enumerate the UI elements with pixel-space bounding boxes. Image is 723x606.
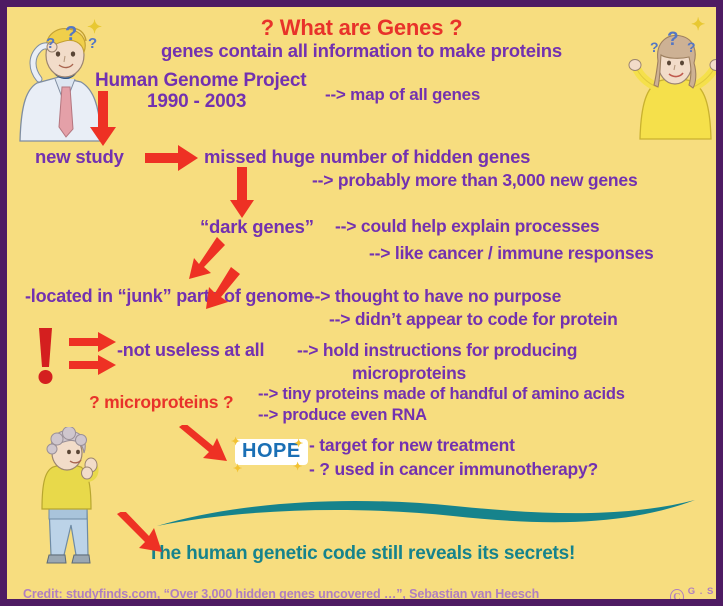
hold-instructions-note: --> hold instructions for producing [297,340,577,360]
diagonal-down-right-arrow-icon [177,425,229,463]
closing-statement: The human genetic code still reveals its… [7,543,716,565]
sparkle-icon: ✦ [294,437,303,450]
sparkle-icon: ✦ [233,462,242,475]
microproteins-word: microproteins [352,363,466,383]
right-arrow-icon [69,355,117,375]
page-title: ? What are Genes ? [7,15,716,40]
right-arrow-icon [69,332,117,352]
new-study-label: new study [35,146,124,167]
copyright-icon: C [670,589,684,605]
exclamation-mark-icon [33,327,59,385]
down-arrow-icon [89,91,117,147]
produce-rna-note: --> produce even RNA [258,406,427,425]
diagonal-down-arrow-icon [203,265,243,311]
right-arrow-icon [145,145,199,171]
down-arrow-icon [229,167,255,219]
teal-swoosh-divider [155,494,700,534]
human-genome-project-label: Human Genome Project [95,70,306,92]
could-help-explain-note: --> could help explain processes [335,216,599,236]
missed-hidden-genes-label: missed huge number of hidden genes [204,146,530,167]
sparkle-icon: ✦ [293,460,302,473]
not-useless-label: -not useless at all [117,340,264,361]
human-genome-project-years: 1990 - 2003 [147,91,246,113]
author-initials: G . S . [688,586,716,606]
subtitle: genes contain all information to make pr… [7,40,716,61]
no-purpose-note: --> thought to have no purpose [309,286,561,306]
cancer-immunotherapy-note: - ? used in cancer immunotherapy? [309,459,598,479]
junk-parts-label: -located in “junk” parts of genome [25,286,313,307]
tiny-proteins-note: --> tiny proteins made of handful of ami… [258,385,625,404]
copyright-mark: C G . S . [670,586,716,606]
probably-more-genes-note: --> probably more than 3,000 new genes [312,170,637,190]
credit-line: Credit: studyfinds.com, “Over 3,000 hidd… [23,587,539,601]
infographic-poster: ? ? ? ✦ ? ? ? ✦ [0,0,723,606]
didnt-code-note: --> didn’t appear to code for protein [329,309,618,329]
map-of-all-genes-note: --> map of all genes [325,85,480,105]
microproteins-question: ? microproteins ? [89,392,233,412]
sparkle-icon: ✦ [231,435,240,448]
like-cancer-immune-note: --> like cancer / immune responses [369,243,654,263]
diagonal-down-right-arrow-icon [115,512,167,554]
target-new-treatment-note: - target for new treatment [309,435,515,455]
